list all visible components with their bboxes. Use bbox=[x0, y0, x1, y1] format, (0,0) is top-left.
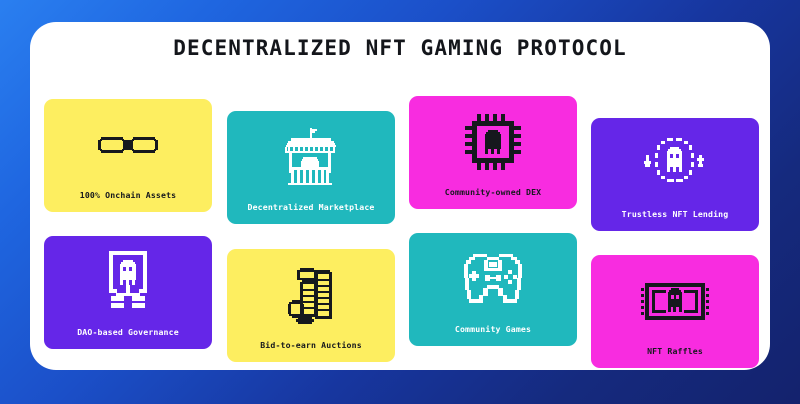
feature-card-auctions[interactable]: Bid-to-earn Auctions bbox=[227, 249, 395, 362]
feature-card-onchain-assets[interactable]: 100% Onchain Assets bbox=[44, 99, 212, 212]
feature-card-nft-raffles[interactable]: NFT Raffles bbox=[591, 255, 759, 368]
feature-card-nft-lending[interactable]: Trustless NFT Lending bbox=[591, 118, 759, 231]
feature-card-community-dex[interactable]: Community-owned DEX bbox=[409, 96, 577, 209]
infographic-stage: DECENTRALIZED NFT GAMING PROTOCOL bbox=[0, 0, 800, 404]
chain-link-icon bbox=[97, 115, 159, 175]
feature-card-marketplace[interactable]: Decentralized Marketplace bbox=[227, 111, 395, 224]
feature-card-label: NFT Raffles bbox=[647, 347, 703, 355]
feature-card-label: Community Games bbox=[455, 325, 531, 333]
game-controller-icon bbox=[461, 249, 525, 309]
coin-stack-icon bbox=[280, 265, 342, 325]
market-stall-icon bbox=[283, 127, 339, 187]
feature-card-label: 100% Onchain Assets bbox=[80, 191, 177, 199]
ghost-network-frame-icon bbox=[99, 252, 157, 312]
page-title: DECENTRALIZED NFT GAMING PROTOCOL bbox=[0, 36, 800, 60]
feature-card-community-games[interactable]: Community Games bbox=[409, 233, 577, 346]
feature-card-label: Bid-to-earn Auctions bbox=[260, 341, 362, 349]
feature-card-dao-governance[interactable]: DAO-based Governance bbox=[44, 236, 212, 349]
cpu-chip-ghost-icon bbox=[464, 112, 522, 172]
raffle-ticket-ghost-icon bbox=[641, 271, 709, 331]
feature-card-label: Trustless NFT Lending bbox=[622, 210, 729, 218]
feature-card-label: DAO-based Governance bbox=[77, 328, 179, 336]
ghost-exchange-circle-icon bbox=[643, 134, 707, 194]
feature-card-label: Community-owned DEX bbox=[445, 188, 542, 196]
feature-card-label: Decentralized Marketplace bbox=[248, 203, 375, 211]
